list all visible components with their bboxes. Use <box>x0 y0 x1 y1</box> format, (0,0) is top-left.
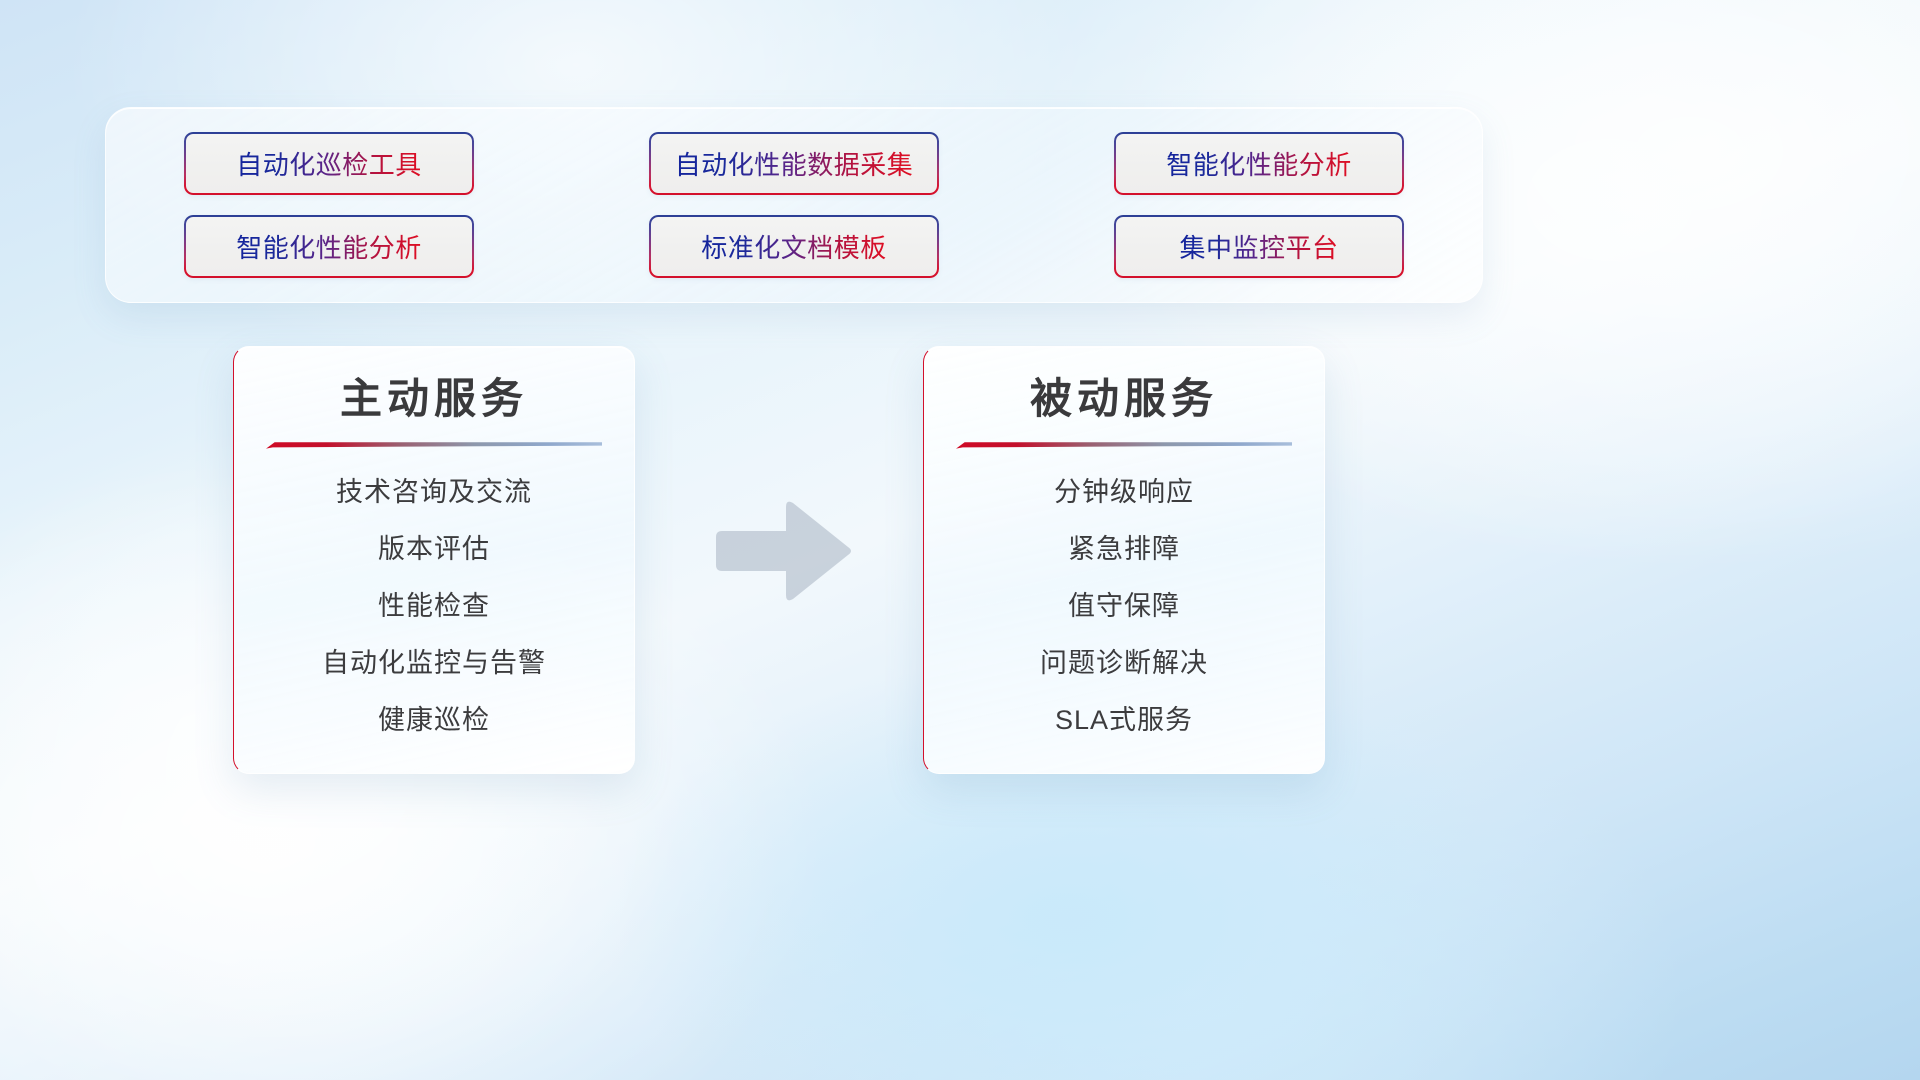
capability-row-2: 智能化性能分析 标准化文档模板 集中监控平台 <box>184 215 1404 278</box>
capability-pill-2-2[interactable]: 标准化文档模板 <box>649 215 939 278</box>
service-item: 技术咨询及交流 <box>260 477 608 508</box>
card-title-divider <box>956 440 1292 449</box>
card-title-divider <box>266 440 602 449</box>
capability-pill-1-2[interactable]: 自动化性能数据采集 <box>649 132 939 195</box>
service-card-item-list: 技术咨询及交流 版本评估 性能检查 自动化监控与告警 健康巡检 <box>260 449 608 774</box>
service-item: 性能检查 <box>260 591 608 622</box>
slide-canvas: 自动化巡检工具 自动化性能数据采集 智能化性能分析 智能化性能分析 标准化文档模… <box>0 0 1920 1080</box>
capability-pill-label: 智能化性能分析 <box>236 228 422 265</box>
capability-pill-label: 自动化巡检工具 <box>236 145 422 182</box>
service-item: 紧急排障 <box>950 534 1298 565</box>
service-item: 自动化监控与告警 <box>260 648 608 679</box>
capability-pill-label: 智能化性能分析 <box>1166 145 1352 182</box>
arrow-right-icon <box>714 497 854 605</box>
service-card-title: 主动服务 <box>260 373 608 426</box>
capability-pill-label: 标准化文档模板 <box>701 228 887 265</box>
service-card-title: 被动服务 <box>950 373 1298 426</box>
capability-pill-label: 集中监控平台 <box>1179 228 1338 265</box>
capability-pill-2-3[interactable]: 集中监控平台 <box>1114 215 1404 278</box>
service-card-reactive: 被动服务 分钟级响应 紧急排障 值守保障 <box>923 346 1325 774</box>
service-item: 问题诊断解决 <box>950 648 1298 679</box>
service-card-item-list: 分钟级响应 紧急排障 值守保障 问题诊断解决 SLA式服务 <box>950 449 1298 774</box>
service-item: 值守保障 <box>950 591 1298 622</box>
service-item: 分钟级响应 <box>950 477 1298 508</box>
capability-panel: 自动化巡检工具 自动化性能数据采集 智能化性能分析 智能化性能分析 标准化文档模… <box>105 107 1483 303</box>
capability-pill-2-1[interactable]: 智能化性能分析 <box>184 215 474 278</box>
capability-row-1: 自动化巡检工具 自动化性能数据采集 智能化性能分析 <box>184 132 1404 195</box>
capability-pill-1-1[interactable]: 自动化巡检工具 <box>184 132 474 195</box>
service-item: 健康巡检 <box>260 705 608 736</box>
service-item: SLA式服务 <box>950 705 1298 736</box>
service-card-proactive: 主动服务 技术咨询及交流 版本评估 性能检查 <box>233 346 635 774</box>
capability-pill-1-3[interactable]: 智能化性能分析 <box>1114 132 1404 195</box>
capability-pill-label: 自动化性能数据采集 <box>675 145 914 182</box>
service-item: 版本评估 <box>260 534 608 565</box>
